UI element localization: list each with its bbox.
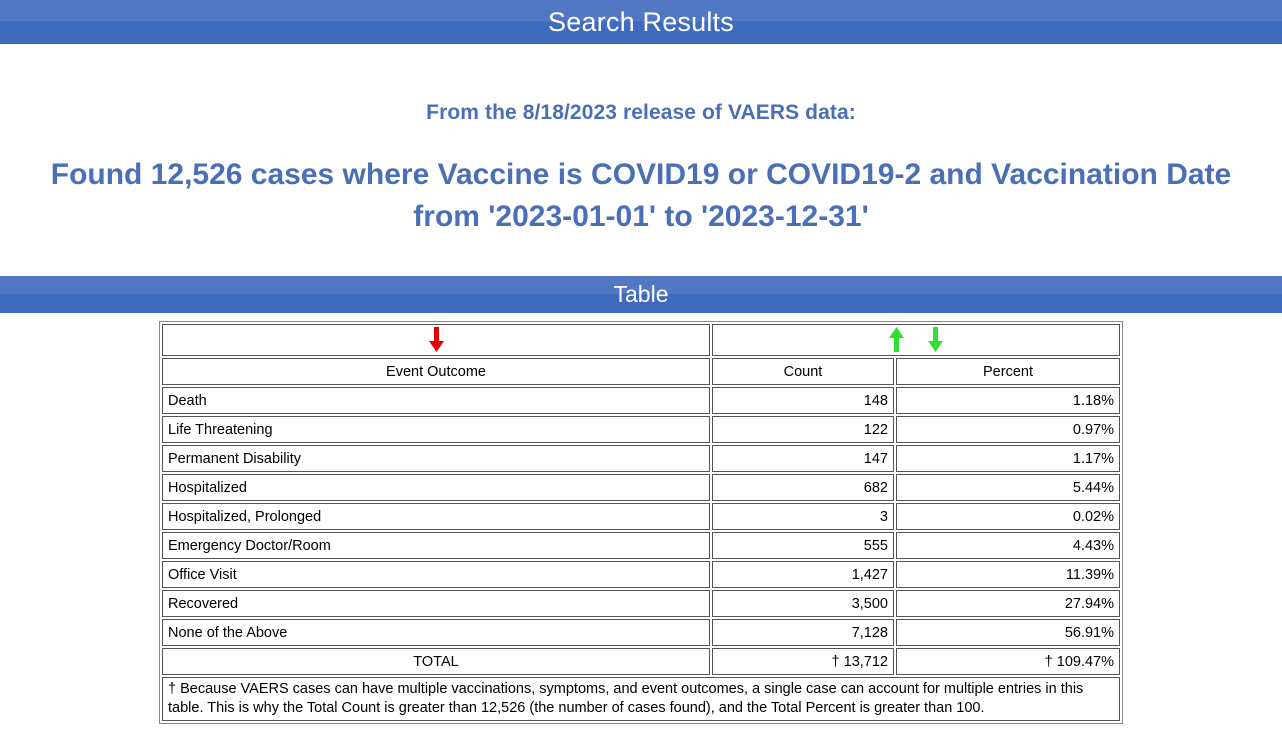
- sort-count-cell[interactable]: [712, 324, 1120, 356]
- table-row: Emergency Doctor/Room 555 4.43%: [162, 532, 1120, 559]
- cell-percent: 56.91%: [896, 619, 1120, 646]
- table-row: Office Visit 1,427 11.39%: [162, 561, 1120, 588]
- table-row: None of the Above 7,128 56.91%: [162, 619, 1120, 646]
- cell-event-outcome: Emergency Doctor/Room: [162, 532, 710, 559]
- column-header-percent[interactable]: Percent: [896, 358, 1120, 385]
- cell-count: 148: [712, 387, 894, 414]
- results-table-container: Event Outcome Count Percent Death 148 1.…: [0, 321, 1282, 724]
- cell-count: 122: [712, 416, 894, 443]
- total-count: † 13,712: [712, 648, 894, 675]
- cell-percent: 1.18%: [896, 387, 1120, 414]
- cell-percent: 27.94%: [896, 590, 1120, 617]
- release-date-line: From the 8/18/2023 release of VAERS data…: [0, 101, 1282, 125]
- total-label: TOTAL: [162, 648, 710, 675]
- cell-percent: 5.44%: [896, 474, 1120, 501]
- table-row: Life Threatening 122 0.97%: [162, 416, 1120, 443]
- cell-event-outcome: Recovered: [162, 590, 710, 617]
- cell-event-outcome: Office Visit: [162, 561, 710, 588]
- arrow-down-icon[interactable]: [428, 332, 445, 348]
- cell-count: 682: [712, 474, 894, 501]
- cell-percent: 4.43%: [896, 532, 1120, 559]
- cell-event-outcome: Death: [162, 387, 710, 414]
- table-section-banner: Table: [0, 276, 1282, 313]
- cell-count: 1,427: [712, 561, 894, 588]
- cell-event-outcome: Hospitalized: [162, 474, 710, 501]
- cell-percent: 1.17%: [896, 445, 1120, 472]
- intro-section: From the 8/18/2023 release of VAERS data…: [0, 101, 1282, 238]
- page-header-banner: Search Results: [0, 0, 1282, 44]
- cell-event-outcome: Permanent Disability: [162, 445, 710, 472]
- arrow-down-icon[interactable]: [927, 332, 944, 348]
- arrow-up-icon[interactable]: [888, 332, 909, 348]
- cell-count: 3,500: [712, 590, 894, 617]
- table-row: Hospitalized 682 5.44%: [162, 474, 1120, 501]
- cell-event-outcome: Life Threatening: [162, 416, 710, 443]
- cell-percent: 0.97%: [896, 416, 1120, 443]
- table-row: Recovered 3,500 27.94%: [162, 590, 1120, 617]
- cell-count: 3: [712, 503, 894, 530]
- cell-count: 7,128: [712, 619, 894, 646]
- footnote-text: † Because VAERS cases can have multiple …: [162, 677, 1120, 721]
- column-header-count[interactable]: Count: [712, 358, 894, 385]
- sort-controls-row: [162, 324, 1120, 356]
- table-header-row: Event Outcome Count Percent: [162, 358, 1120, 385]
- cell-event-outcome: None of the Above: [162, 619, 710, 646]
- cell-percent: 11.39%: [896, 561, 1120, 588]
- total-percent: † 109.47%: [896, 648, 1120, 675]
- column-header-event-outcome[interactable]: Event Outcome: [162, 358, 710, 385]
- cell-count: 147: [712, 445, 894, 472]
- table-total-row: TOTAL † 13,712 † 109.47%: [162, 648, 1120, 675]
- found-cases-line: Found 12,526 cases where Vaccine is COVI…: [0, 154, 1282, 238]
- cell-percent: 0.02%: [896, 503, 1120, 530]
- table-footnote-row: † Because VAERS cases can have multiple …: [162, 677, 1120, 721]
- table-section-label: Table: [614, 281, 669, 307]
- cell-event-outcome: Hospitalized, Prolonged: [162, 503, 710, 530]
- table-row: Death 148 1.18%: [162, 387, 1120, 414]
- table-row: Permanent Disability 147 1.17%: [162, 445, 1120, 472]
- page-title: Search Results: [548, 7, 734, 37]
- table-row: Hospitalized, Prolonged 3 0.02%: [162, 503, 1120, 530]
- sort-outcome-cell[interactable]: [162, 324, 710, 356]
- results-table: Event Outcome Count Percent Death 148 1.…: [159, 321, 1123, 724]
- cell-count: 555: [712, 532, 894, 559]
